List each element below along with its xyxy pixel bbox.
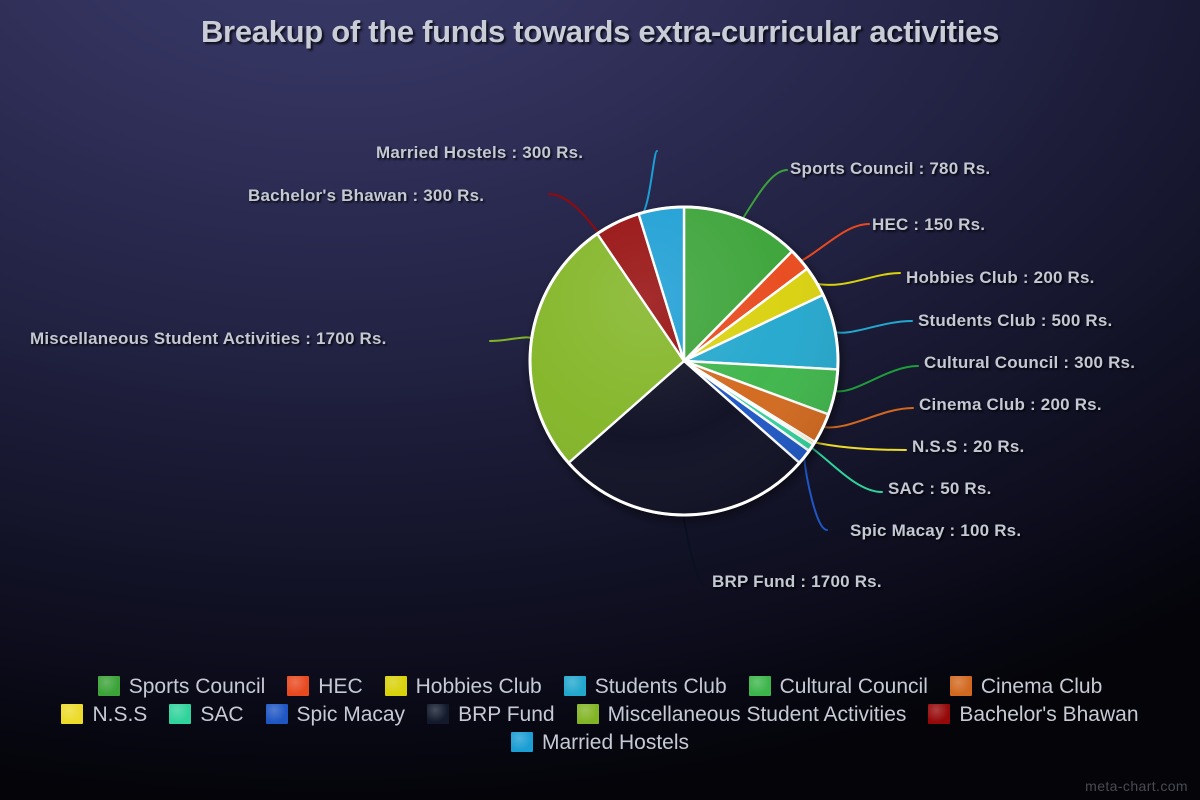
legend-item[interactable]: Sports Council <box>98 672 266 700</box>
legend-label: Spic Macay <box>297 704 406 725</box>
legend-swatch-icon <box>385 676 407 696</box>
legend-item[interactable]: HEC <box>287 672 362 700</box>
legend-swatch-icon <box>427 704 449 724</box>
slice-label-brp-fund: BRP Fund : 1700 Rs. <box>712 572 882 592</box>
leader-line-cinema-club <box>821 408 913 427</box>
slice-label-spic-macay: Spic Macay : 100 Rs. <box>850 521 1021 541</box>
slice-label-hobbies-club: Hobbies Club : 200 Rs. <box>906 268 1095 288</box>
legend-label: HEC <box>318 676 362 697</box>
legend-item[interactable]: BRP Fund <box>427 700 555 728</box>
legend-label: BRP Fund <box>458 704 555 725</box>
slice-label-married-hostels: Married Hostels : 300 Rs. <box>376 143 583 163</box>
legend-label: Cinema Club <box>981 676 1102 697</box>
chart-legend: Sports CouncilHECHobbies ClubStudents Cl… <box>0 672 1200 756</box>
legend-label: Hobbies Club <box>416 676 542 697</box>
leader-line-brp-fund <box>682 513 705 585</box>
legend-swatch-icon <box>511 732 533 752</box>
slice-label-nss: N.S.S : 20 Rs. <box>912 437 1024 457</box>
legend-label: SAC <box>200 704 243 725</box>
legend-item[interactable]: Students Club <box>564 672 727 700</box>
legend-swatch-icon <box>749 676 771 696</box>
pie-slices-group <box>530 207 838 515</box>
legend-label: Cultural Council <box>780 676 928 697</box>
legend-item[interactable]: Cinema Club <box>950 672 1102 700</box>
leader-line-students-club <box>833 321 912 333</box>
leader-line-cultural-council <box>833 366 918 391</box>
legend-swatch-icon <box>577 704 599 724</box>
leader-line-misc-activities <box>490 337 533 341</box>
legend-swatch-icon <box>928 704 950 724</box>
legend-swatch-icon <box>564 676 586 696</box>
leader-line-spic-macay <box>804 455 827 530</box>
legend-swatch-icon <box>287 676 309 696</box>
leader-line-married-hostels <box>641 151 657 215</box>
slice-label-sports-council: Sports Council : 780 Rs. <box>790 159 990 179</box>
leader-line-sac <box>810 446 882 492</box>
slice-label-hec: HEC : 150 Rs. <box>872 215 985 235</box>
slice-label-misc-activities: Miscellaneous Student Activities : 1700 … <box>30 329 387 349</box>
legend-swatch-icon <box>169 704 191 724</box>
pie-chart-figure: Breakup of the funds towards extra-curri… <box>0 0 1200 800</box>
legend-swatch-icon <box>61 704 83 724</box>
slice-label-bachelors-bhawan: Bachelor's Bhawan : 300 Rs. <box>248 186 484 206</box>
leader-line-nss <box>813 442 906 450</box>
legend-label: Bachelor's Bhawan <box>959 704 1138 725</box>
leader-line-hobbies-club <box>815 273 900 285</box>
legend-item[interactable]: Hobbies Club <box>385 672 542 700</box>
legend-swatch-icon <box>950 676 972 696</box>
legend-item[interactable]: Bachelor's Bhawan <box>928 700 1138 728</box>
legend-swatch-icon <box>266 704 288 724</box>
leader-line-bachelors-bhawan <box>549 194 600 234</box>
legend-item[interactable]: Miscellaneous Student Activities <box>577 700 907 728</box>
slice-label-cultural-council: Cultural Council : 300 Rs. <box>924 353 1135 373</box>
legend-item[interactable]: Spic Macay <box>266 700 406 728</box>
legend-item[interactable]: Cultural Council <box>749 672 928 700</box>
legend-label: Students Club <box>595 676 727 697</box>
legend-item[interactable]: N.S.S <box>61 700 147 728</box>
legend-label: Miscellaneous Student Activities <box>608 704 907 725</box>
legend-swatch-icon <box>98 676 120 696</box>
legend-item[interactable]: Married Hostels <box>511 728 689 756</box>
legend-label: Sports Council <box>129 676 266 697</box>
watermark: meta-chart.com <box>1085 778 1188 794</box>
slice-label-sac: SAC : 50 Rs. <box>888 479 992 499</box>
legend-item[interactable]: SAC <box>169 700 243 728</box>
leader-line-sports-council <box>742 170 787 220</box>
leader-line-hec <box>799 224 869 262</box>
slice-label-students-club: Students Club : 500 Rs. <box>918 311 1112 331</box>
slice-label-cinema-club: Cinema Club : 200 Rs. <box>919 395 1102 415</box>
legend-label: Married Hostels <box>542 732 689 753</box>
legend-label: N.S.S <box>92 704 147 725</box>
